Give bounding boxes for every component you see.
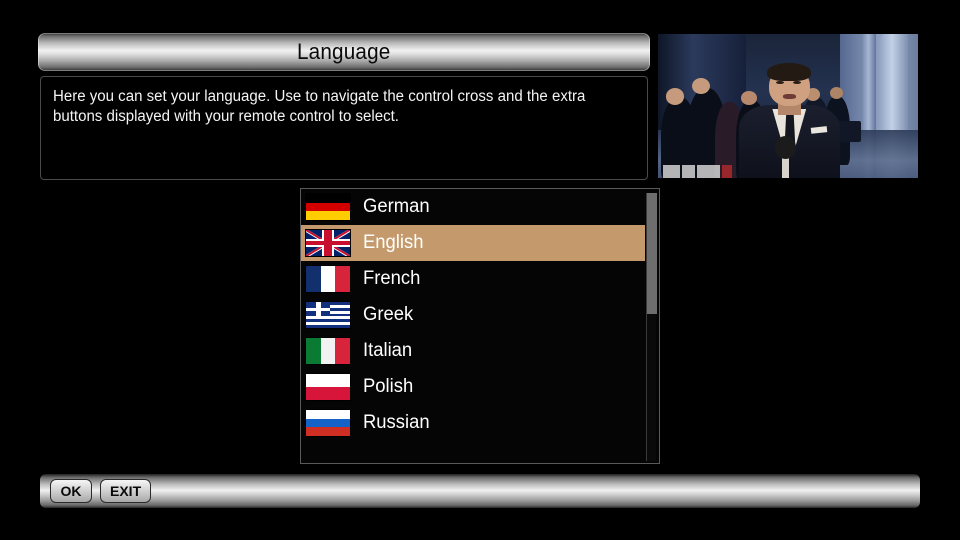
watermark-block xyxy=(682,165,694,179)
video-frame xyxy=(658,31,918,181)
flag-band xyxy=(306,194,350,203)
flag-cross xyxy=(306,308,330,311)
video-channel-watermark xyxy=(663,165,741,179)
video-crowd-head xyxy=(741,91,757,105)
flag-band xyxy=(306,419,350,428)
flag-poland-icon xyxy=(305,373,351,401)
language-list-item[interactable]: English xyxy=(301,225,645,261)
video-letterbox xyxy=(658,31,918,34)
language-list-item-label: English xyxy=(363,232,423,254)
flag-band xyxy=(321,338,336,364)
flag-france-icon xyxy=(305,265,351,293)
video-preview[interactable] xyxy=(658,31,918,181)
video-letterbox xyxy=(658,178,918,181)
scrollbar-track[interactable] xyxy=(646,193,656,461)
ok-button[interactable]: OK xyxy=(50,479,92,503)
video-reporter-eye xyxy=(776,81,784,84)
language-list-item[interactable]: Greek xyxy=(301,297,645,333)
language-list-item[interactable]: French xyxy=(301,261,645,297)
language-list-item-label: Greek xyxy=(363,304,413,326)
description-text: Here you can set your language. Use to n… xyxy=(53,87,618,127)
language-list-item-label: Russian xyxy=(363,412,430,434)
flag-band xyxy=(306,427,350,436)
bottom-action-bar: OK EXIT xyxy=(40,474,920,508)
video-crowd-head xyxy=(830,87,843,99)
video-reporter-hair xyxy=(767,63,811,81)
flag-band xyxy=(306,203,350,212)
watermark-block xyxy=(722,165,731,179)
flag-band xyxy=(306,374,350,387)
video-reporter-eye xyxy=(793,81,801,84)
flag-band xyxy=(306,266,321,292)
flag-band xyxy=(321,266,336,292)
language-list-item[interactable]: Polish xyxy=(301,369,645,405)
language-list-item-label: Polish xyxy=(363,376,413,398)
scrollbar-thumb[interactable] xyxy=(647,193,657,314)
language-list-item-label: German xyxy=(363,196,430,218)
video-reporter-mouth xyxy=(783,94,796,99)
flag-united-kingdom-icon xyxy=(305,229,351,257)
video-crowd-head xyxy=(666,88,684,105)
language-list-item[interactable]: Russian xyxy=(301,405,645,441)
flag-russia-icon xyxy=(305,409,351,437)
flag-band xyxy=(306,338,321,364)
language-list-panel[interactable]: GermanEnglishFrenchGreekItalianPolishRus… xyxy=(300,188,660,464)
flag-greece-icon xyxy=(305,301,351,329)
window-title-bar: Language xyxy=(38,33,650,71)
language-list-item-label: French xyxy=(363,268,420,290)
page-title: Language xyxy=(297,39,391,65)
flag-italy-icon xyxy=(305,337,351,365)
flag-canton xyxy=(306,302,330,316)
language-list-item-label: Italian xyxy=(363,340,412,362)
watermark-block xyxy=(697,165,720,179)
flag-band xyxy=(335,338,350,364)
flag-band xyxy=(335,266,350,292)
language-list-item[interactable]: German xyxy=(301,189,645,225)
exit-button[interactable]: EXIT xyxy=(100,479,151,503)
flag-band xyxy=(306,410,350,419)
language-list[interactable]: GermanEnglishFrenchGreekItalianPolishRus… xyxy=(301,189,645,441)
video-crowd-head xyxy=(692,78,710,95)
flag-band xyxy=(306,387,350,400)
language-list-item[interactable]: Italian xyxy=(301,333,645,369)
flag-germany-icon xyxy=(305,193,351,221)
flag-cross-red xyxy=(324,230,331,256)
flag-band xyxy=(306,325,350,328)
tv-settings-screen: Language Here you can set your language.… xyxy=(0,0,960,540)
flag-band xyxy=(306,211,350,220)
watermark-block xyxy=(663,165,680,179)
video-microphone-head xyxy=(775,136,796,159)
description-box: Here you can set your language. Use to n… xyxy=(40,76,648,180)
